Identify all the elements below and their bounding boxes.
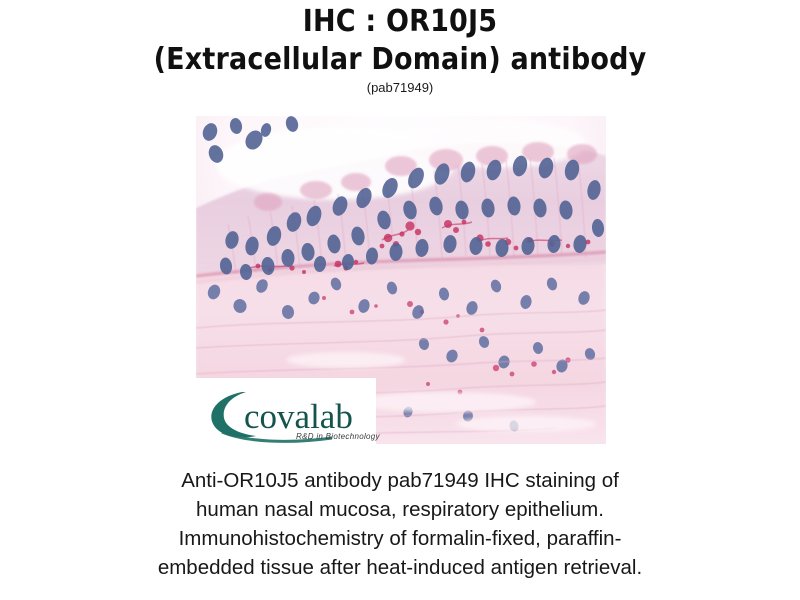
figure-caption: Anti-OR10J5 antibody pab71949 IHC staini… xyxy=(60,466,740,582)
caption-line-1: Anti-OR10J5 antibody pab71949 IHC staini… xyxy=(60,466,740,495)
svg-text:R&D in Biotechnology: R&D in Biotechnology xyxy=(296,432,381,441)
svg-text:covalab: covalab xyxy=(244,397,353,436)
caption-line-3: Immunohistochemistry of formalin-fixed, … xyxy=(60,524,740,553)
ihc-micrograph: covalab R&D in Biotechnology xyxy=(196,116,606,444)
title-line-1: IHC : OR10J5 xyxy=(0,4,800,40)
catalog-number: (pab71949) xyxy=(0,80,800,96)
title-line-2: (Extracellular Domain) antibody xyxy=(0,42,800,78)
page-title: IHC : OR10J5 (Extracellular Domain) anti… xyxy=(0,4,800,96)
caption-line-4: embedded tissue after heat-induced antig… xyxy=(60,553,740,582)
caption-line-2: human nasal mucosa, respiratory epitheli… xyxy=(60,495,740,524)
figure-page: IHC : OR10J5 (Extracellular Domain) anti… xyxy=(0,0,800,600)
covalab-logo: covalab R&D in Biotechnology xyxy=(196,378,381,444)
micrograph-image: covalab R&D in Biotechnology xyxy=(196,116,606,444)
